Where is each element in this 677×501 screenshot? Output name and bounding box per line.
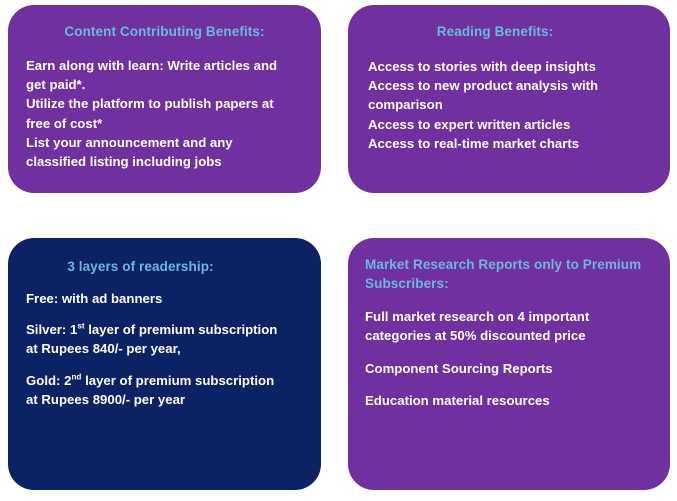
card-inner: Content Contributing Benefits: Earn alon… <box>8 5 321 193</box>
body-line: Access to new product analysis with <box>368 76 656 95</box>
silver-prefix: Silver: 1 <box>26 322 77 337</box>
card-inner: Market Research Reports only to Premium … <box>348 238 670 490</box>
silver-suffix: layer of premium subscription <box>85 322 278 337</box>
body-line: Utilize the platform to publish papers a… <box>26 94 307 113</box>
silver-ordinal-suffix: st <box>77 322 84 331</box>
market-reports-body: Full market research on 4 important cate… <box>348 293 670 410</box>
slide-canvas: Content Contributing Benefits: Earn alon… <box>0 0 677 501</box>
heading-line: Market Research Reports only to Premium <box>365 257 641 272</box>
readership-tier-gold: Gold: 2nd layer of premium subscription … <box>26 371 307 409</box>
market-reports-item: Education material resources <box>365 391 654 410</box>
body-line: comparison <box>368 95 656 114</box>
body-line: Silver: 1st layer of premium subscriptio… <box>26 320 307 339</box>
card-reading-benefits: Reading Benefits: Access to stories with… <box>348 5 670 193</box>
card-inner: 3 layers of readership: Free: with ad ba… <box>8 238 321 490</box>
gold-prefix: Gold: 2 <box>26 373 71 388</box>
content-benefits-body: Earn along with learn: Write articles an… <box>8 41 321 171</box>
body-line: List your announcement and any <box>26 133 307 152</box>
body-line: at Rupees 840/- per year, <box>26 339 307 358</box>
body-line: Component Sourcing Reports <box>365 359 654 378</box>
gold-suffix: layer of premium subscription <box>81 373 274 388</box>
market-reports-item: Full market research on 4 important cate… <box>365 307 654 345</box>
readership-layers-body: Free: with ad banners Silver: 1st layer … <box>8 276 321 409</box>
readership-tier-silver: Silver: 1st layer of premium subscriptio… <box>26 320 307 358</box>
reading-benefits-body: Access to stories with deep insights Acc… <box>348 41 670 153</box>
readership-layers-heading: 3 layers of readership: <box>8 238 321 276</box>
card-readership-layers: 3 layers of readership: Free: with ad ba… <box>8 238 321 490</box>
body-line: Earn along with learn: Write articles an… <box>26 56 307 75</box>
market-reports-heading: Market Research Reports only to Premium … <box>348 238 670 293</box>
body-line: Access to expert written articles <box>368 115 656 134</box>
body-line: Full market research on 4 important <box>365 307 654 326</box>
body-line: Gold: 2nd layer of premium subscription <box>26 371 307 390</box>
card-content-contributing-benefits: Content Contributing Benefits: Earn alon… <box>8 5 321 193</box>
body-line: Free: with ad banners <box>26 289 307 308</box>
market-reports-item: Component Sourcing Reports <box>365 359 654 378</box>
body-line: Access to stories with deep insights <box>368 57 656 76</box>
body-line: Access to real-time market charts <box>368 134 656 153</box>
body-line: at Rupees 8900/- per year <box>26 390 307 409</box>
body-line: Education material resources <box>365 391 654 410</box>
card-market-research-reports: Market Research Reports only to Premium … <box>348 238 670 490</box>
reading-benefits-heading: Reading Benefits: <box>348 5 670 41</box>
body-line: free of cost* <box>26 114 307 133</box>
content-benefits-heading: Content Contributing Benefits: <box>8 5 321 41</box>
gold-ordinal-suffix: nd <box>71 372 81 381</box>
readership-tier-free: Free: with ad banners <box>26 289 307 308</box>
card-inner: Reading Benefits: Access to stories with… <box>348 5 670 193</box>
body-line: classified listing including jobs <box>26 152 307 171</box>
body-line: get paid*. <box>26 75 307 94</box>
body-line: categories at 50% discounted price <box>365 326 654 345</box>
heading-line: Subscribers: <box>365 276 449 291</box>
